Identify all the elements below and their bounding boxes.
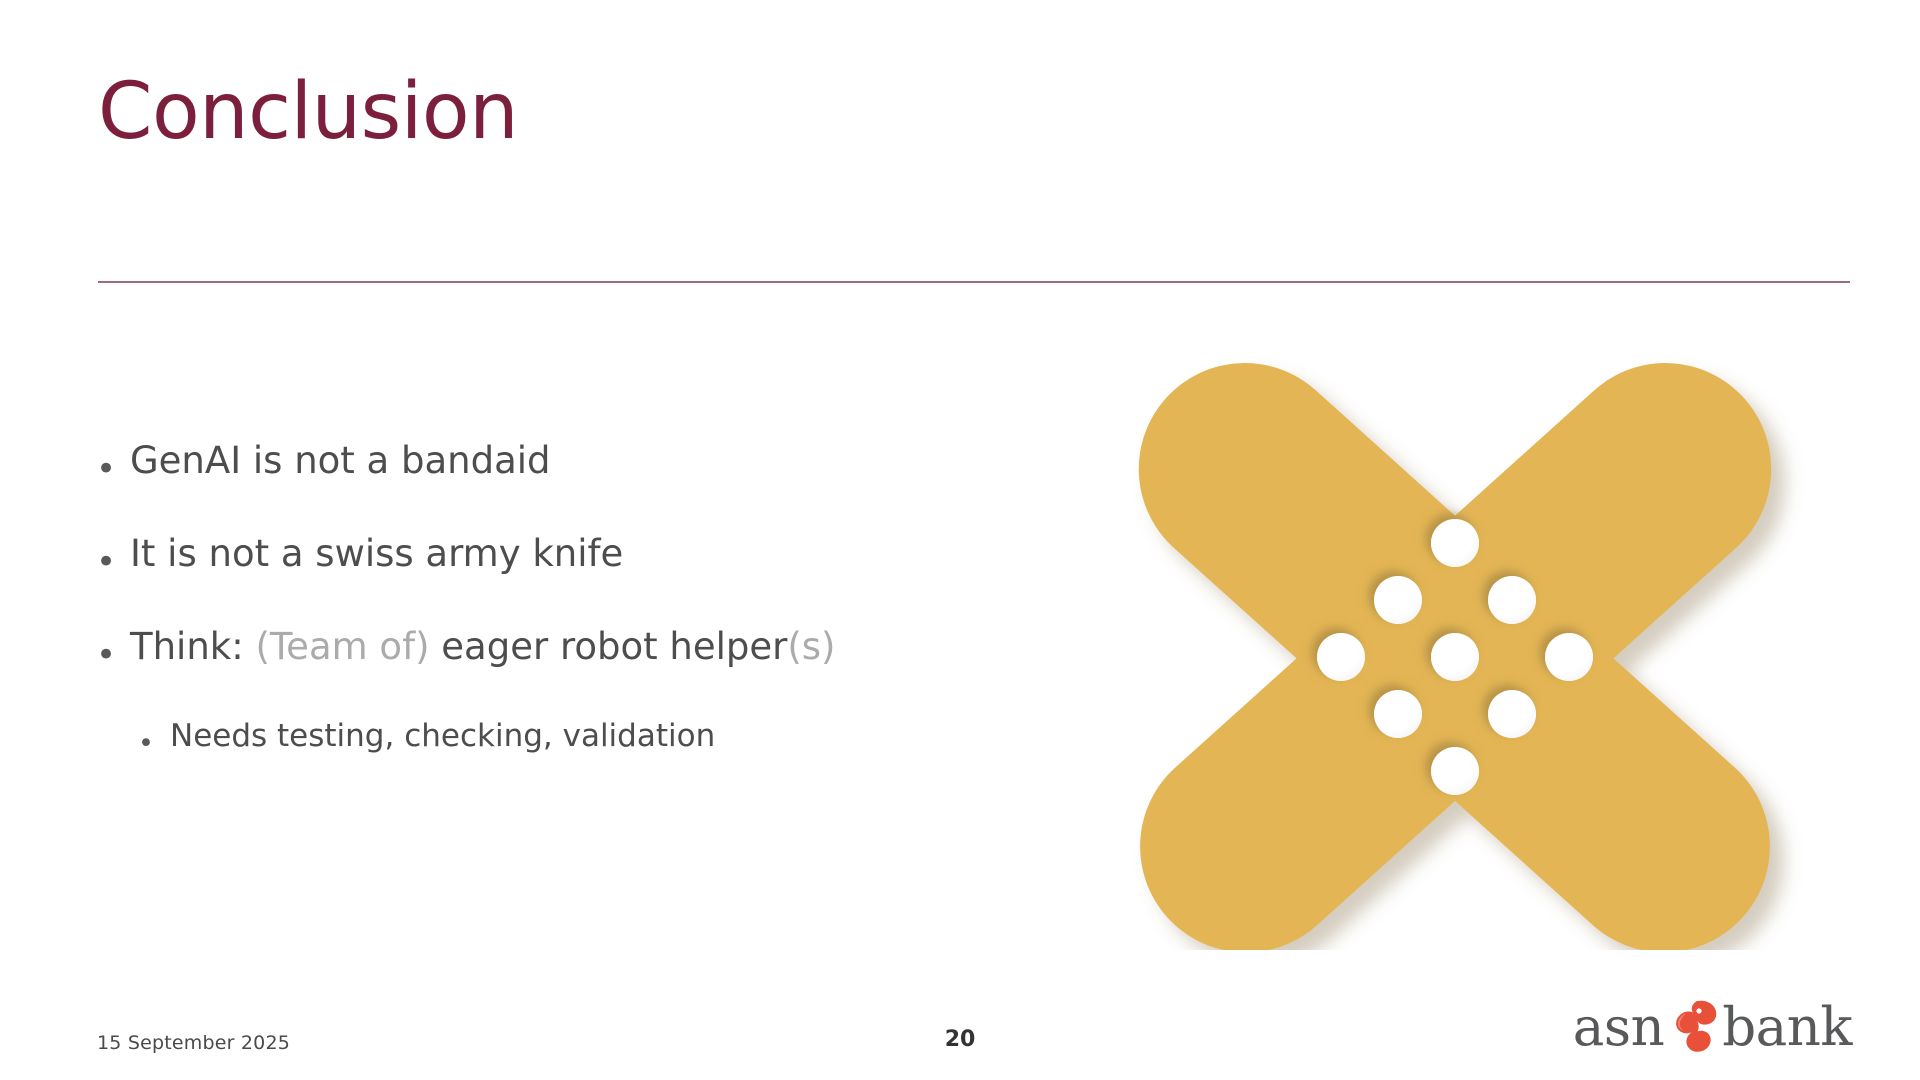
- bullet-marker-icon: •: [96, 626, 130, 672]
- list-item: • Think: (Team of) eager robot helper(s): [96, 626, 1056, 672]
- logo-word-asn: asn: [1573, 1001, 1664, 1054]
- list-item: • It is not a swiss army knife: [96, 533, 1056, 579]
- list-item-label-part-plural-s: (s): [787, 625, 835, 668]
- list-item: • Needs testing, checking, validation: [138, 719, 1056, 757]
- list-item-label-part-think: Think:: [130, 625, 255, 668]
- logo-word-bank: bank: [1722, 1001, 1852, 1054]
- bullet-marker-icon: •: [96, 440, 130, 486]
- squirrel-icon: [1666, 998, 1718, 1056]
- list-item: • GenAI is not a bandaid: [96, 440, 1056, 486]
- asn-bank-logo: asn bank: [1573, 992, 1852, 1062]
- title-divider: [98, 281, 1850, 283]
- bullet-marker-icon: •: [96, 533, 130, 579]
- list-item-label: GenAI is not a bandaid: [130, 440, 551, 481]
- list-item-label: Think: (Team of) eager robot helper(s): [130, 626, 836, 667]
- bullet-marker-icon: •: [138, 719, 170, 757]
- list-item-label-part-team-of: (Team of): [255, 625, 429, 668]
- list-item-label: Needs testing, checking, validation: [170, 719, 715, 754]
- page-title: Conclusion: [98, 72, 518, 154]
- slide-canvas: Conclusion • GenAI is not a bandaid • It…: [0, 0, 1920, 1080]
- list-item-label: It is not a swiss army knife: [130, 533, 623, 574]
- bandaid-illustration: [1095, 300, 1815, 950]
- list-item-label-part-eager-robot-helper: eager robot helper: [430, 625, 788, 668]
- bullet-list: • GenAI is not a bandaid • It is not a s…: [96, 440, 1056, 757]
- bandaid-icon: [1095, 300, 1815, 950]
